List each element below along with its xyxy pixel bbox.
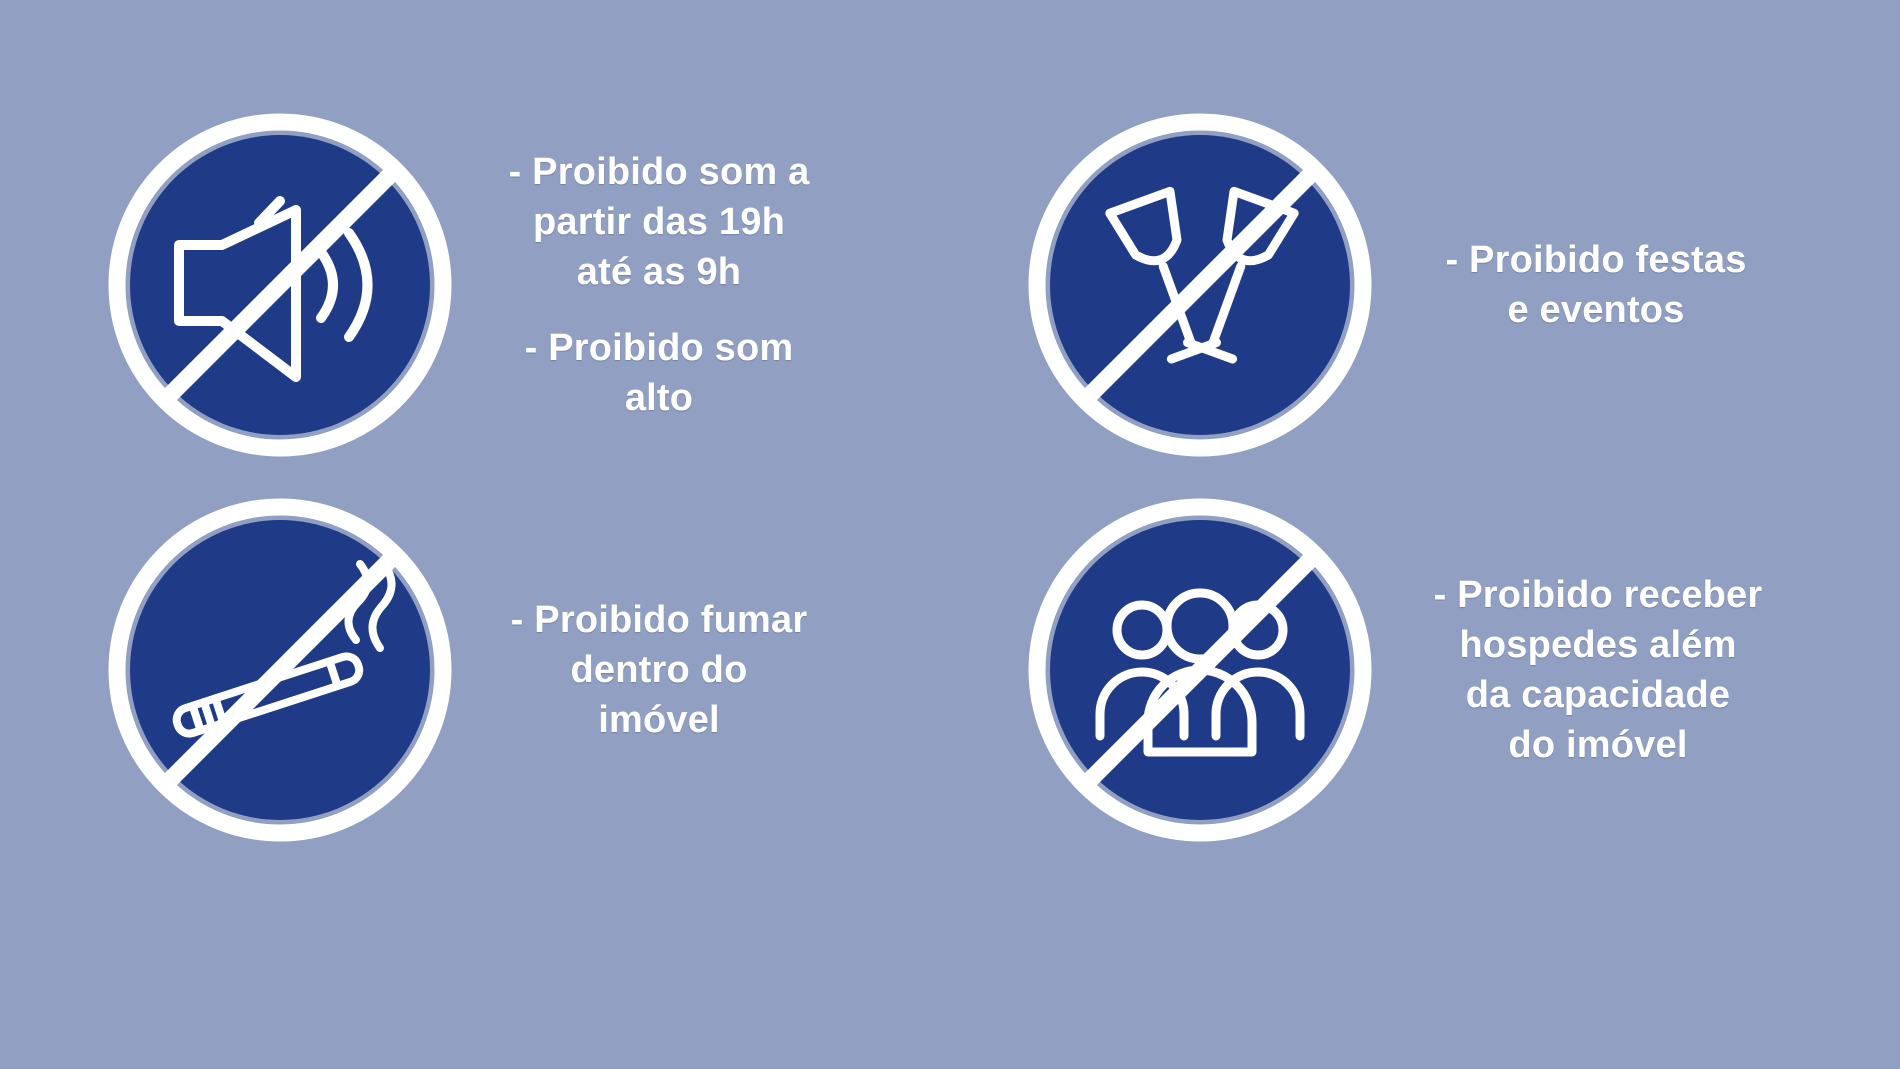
prohibition-sign-parties	[1020, 105, 1380, 465]
prohibition-sign-guests	[1020, 490, 1380, 850]
group-of-people-icon	[1020, 490, 1380, 850]
rule-caption-smoking: - Proibido fumar dentro do imóvel	[460, 595, 920, 745]
rule-line-1: - Proibido receber hospedes além da capa…	[1416, 570, 1780, 771]
toasting-glasses-icon	[1020, 105, 1380, 465]
prohibition-sign-smoking	[100, 490, 460, 850]
rule-line-1: - Proibido festas e eventos	[1422, 235, 1770, 335]
rule-item-parties: - Proibido festas e eventos	[1000, 90, 1830, 480]
rule-caption-noise: - Proibido som a partir das 19h até as 9…	[460, 147, 920, 424]
rule-item-guests: - Proibido receber hospedes além da capa…	[1000, 470, 1830, 870]
rule-item-smoking: - Proibido fumar dentro do imóvel	[100, 470, 920, 870]
prohibition-sign-noise	[100, 105, 460, 465]
rule-item-noise: - Proibido som a partir das 19h até as 9…	[100, 90, 920, 480]
muted-speaker-icon	[100, 105, 460, 465]
rule-caption-guests: - Proibido receber hospedes além da capa…	[1380, 570, 1830, 771]
cigarette-icon	[100, 490, 460, 850]
rule-line-2: - Proibido som alto	[508, 323, 810, 423]
rule-line-1: - Proibido fumar dentro do imóvel	[508, 595, 810, 745]
house-rules-poster: - Proibido som a partir das 19h até as 9…	[0, 0, 1900, 1069]
rule-caption-parties: - Proibido festas e eventos	[1380, 235, 1830, 335]
rule-line-1: - Proibido som a partir das 19h até as 9…	[508, 147, 810, 297]
